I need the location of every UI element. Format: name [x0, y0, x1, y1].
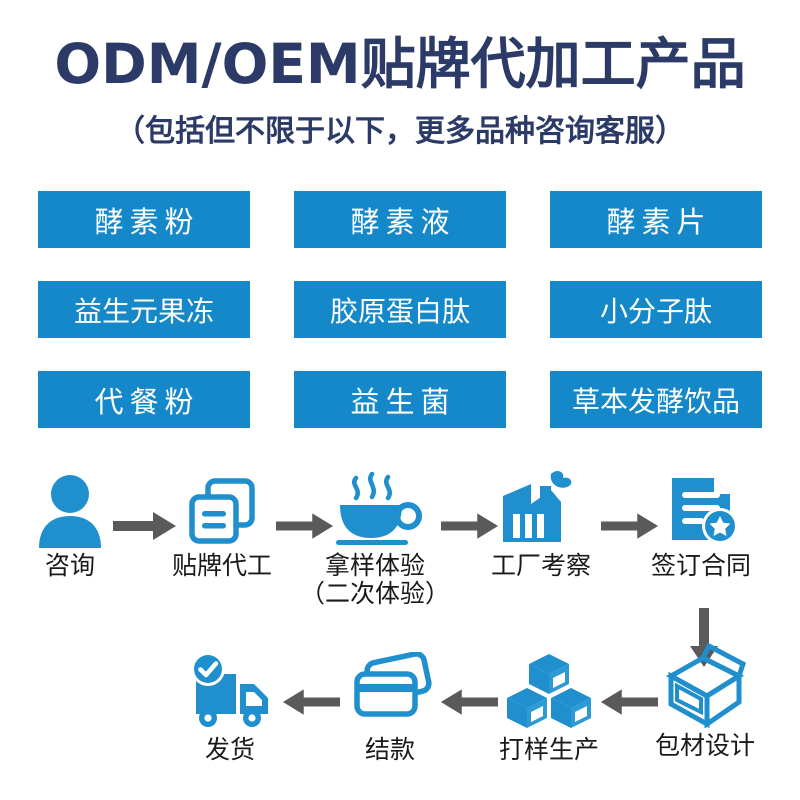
product-chip[interactable]: 小分子肽: [550, 281, 762, 338]
process-flow: 咨询 贴牌代工: [0, 468, 800, 800]
page-title: ODM/OEM贴牌代加工产品: [0, 36, 800, 94]
flow-step-shipping[interactable]: 发货: [155, 654, 305, 764]
flow-step-label: 拿样体验: [300, 552, 450, 580]
flow-step-label: 工厂考察: [466, 552, 616, 580]
flow-step-sample[interactable]: 拿样体验 （二次体验）: [300, 470, 450, 608]
flow-step-label: 结款: [315, 736, 465, 764]
flow-step-label: 贴牌代工: [147, 552, 297, 580]
documents-icon: [147, 470, 297, 548]
product-grid: 酵素粉 酵素液 酵素片 益生元果冻 胶原蛋白肽 小分子肽 代餐粉 益生菌 草本发…: [38, 191, 762, 428]
product-chip[interactable]: 酵素粉: [38, 191, 250, 248]
product-chip[interactable]: 代餐粉: [38, 371, 250, 428]
product-chip[interactable]: 益生菌: [294, 371, 506, 428]
header: ODM/OEM贴牌代加工产品 （包括但不限于以下，更多品种咨询客服）: [0, 36, 800, 150]
product-chip[interactable]: 益生元果冻: [38, 281, 250, 338]
flow-step-label: 包材设计: [630, 732, 780, 760]
product-chip[interactable]: 酵素片: [550, 191, 762, 248]
factory-icon: [466, 470, 616, 548]
flow-step-label: 发货: [155, 736, 305, 764]
coffee-cup-icon: [300, 470, 450, 548]
contract-star-icon: [626, 470, 776, 548]
product-chip[interactable]: 胶原蛋白肽: [294, 281, 506, 338]
flow-step-contract[interactable]: 签订合同: [626, 470, 776, 580]
flow-step-oem[interactable]: 贴牌代工: [147, 470, 297, 580]
flow-step-factory[interactable]: 工厂考察: [466, 470, 616, 580]
flow-step-label: 咨询: [0, 552, 145, 580]
delivery-truck-icon: [155, 654, 305, 732]
flow-step-label: 签订合同: [626, 552, 776, 580]
flow-step-sublabel: （二次体验）: [300, 580, 450, 608]
product-chip[interactable]: 草本发酵饮品: [550, 371, 762, 428]
flow-step-label: 打样生产: [474, 736, 624, 764]
poster-root: ODM/OEM贴牌代加工产品 （包括但不限于以下，更多品种咨询客服） 酵素粉 酵…: [0, 0, 800, 800]
product-chip[interactable]: 酵素液: [294, 191, 506, 248]
page-subtitle: （包括但不限于以下，更多品种咨询客服）: [0, 106, 800, 150]
